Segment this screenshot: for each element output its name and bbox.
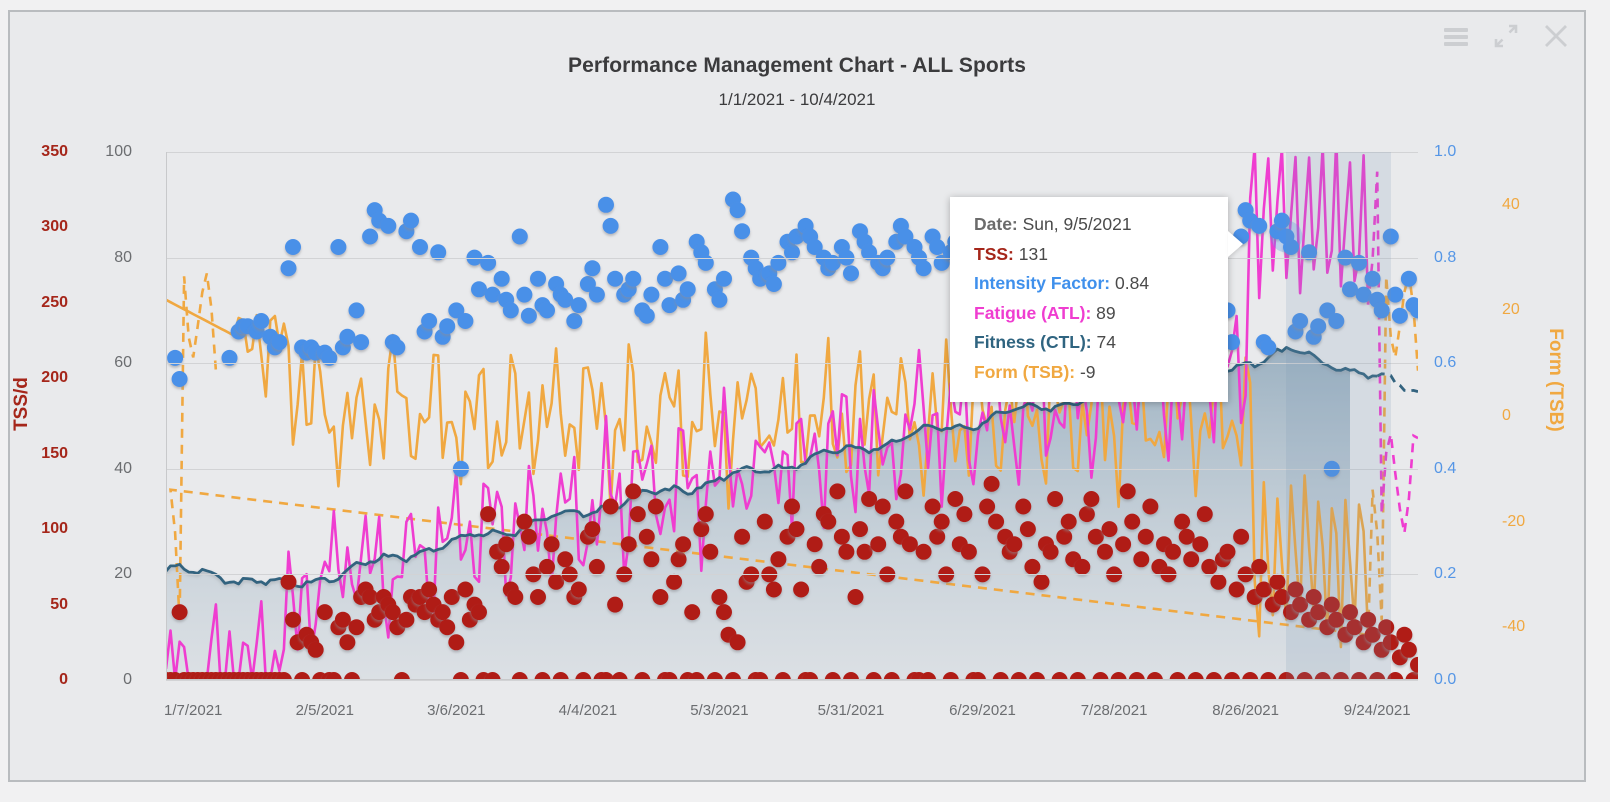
tooltip-row-4: Fitness (CTL): 74 xyxy=(974,328,1208,358)
page-title: Performance Management Chart - ALL Sport… xyxy=(10,54,1584,78)
x-tick-label: 8/26/2021 xyxy=(1212,702,1279,719)
close-icon[interactable] xyxy=(1542,22,1570,50)
y-tick-if: 0.2 xyxy=(1434,565,1456,583)
x-tick-label: 4/4/2021 xyxy=(559,702,617,719)
tooltip: Date: Sun, 9/5/2021TSS: 131Intensity Fac… xyxy=(950,197,1228,402)
y-tick-tss: 200 xyxy=(41,369,68,387)
y-tick-tss: 100 xyxy=(41,520,68,538)
y-axis-title-tsb: Form (TSB) xyxy=(1544,328,1566,431)
y-tick-tss: 150 xyxy=(41,445,68,463)
chart-window: Performance Management Chart - ALL Sport… xyxy=(8,10,1586,782)
gridline xyxy=(166,680,1418,681)
x-tick-label: 9/24/2021 xyxy=(1344,702,1411,719)
tooltip-row-5: Form (TSB): -9 xyxy=(974,358,1208,388)
y-tick-tsb: 40 xyxy=(1502,196,1520,214)
x-axis-line xyxy=(166,679,1418,680)
window-controls xyxy=(1442,22,1570,50)
y-tick-tsb: 0 xyxy=(1502,407,1511,425)
y-tick-tss: 0 xyxy=(59,671,68,689)
tooltip-row-0: Date: Sun, 9/5/2021 xyxy=(974,210,1208,240)
y-tick-ctl_atl: 100 xyxy=(105,143,132,161)
menu-icon[interactable] xyxy=(1442,22,1470,50)
y-tick-ctl_atl: 0 xyxy=(123,671,132,689)
tooltip-row-3: Fatigue (ATL): 89 xyxy=(974,299,1208,329)
x-tick-label: 3/6/2021 xyxy=(427,702,485,719)
x-tick-label: 7/28/2021 xyxy=(1081,702,1148,719)
y-axis-title-tss: TSS/d xyxy=(11,377,33,431)
gridline xyxy=(166,574,1418,575)
tooltip-value: Sun, 9/5/2021 xyxy=(1018,214,1132,234)
x-tick-label: 5/3/2021 xyxy=(690,702,748,719)
tooltip-value: 0.84 xyxy=(1110,273,1149,293)
y-tick-ctl_atl: 60 xyxy=(114,354,132,372)
date-range-subtitle: 1/1/2021 - 10/4/2021 xyxy=(10,90,1584,110)
tooltip-key: Form (TSB): xyxy=(974,362,1075,382)
tooltip-key: Fitness (CTL): xyxy=(974,332,1092,352)
y-tick-tsb: -40 xyxy=(1502,618,1525,636)
y-tick-if: 0.4 xyxy=(1434,460,1456,478)
gridline xyxy=(166,363,1418,364)
tooltip-row-2: Intensity Factor: 0.84 xyxy=(974,269,1208,299)
x-tick-label: 1/7/2021 xyxy=(164,702,222,719)
y-tick-ctl_atl: 40 xyxy=(114,460,132,478)
y-tick-tss: 250 xyxy=(41,294,68,312)
x-tick-label: 6/29/2021 xyxy=(949,702,1016,719)
y-tick-if: 0.0 xyxy=(1434,671,1456,689)
tooltip-key: TSS: xyxy=(974,244,1014,264)
y-tick-tss: 50 xyxy=(50,596,68,614)
tooltip-value: -9 xyxy=(1075,362,1095,382)
x-tick-label: 2/5/2021 xyxy=(296,702,354,719)
gridline xyxy=(166,152,1418,153)
y-axis-line xyxy=(166,152,167,680)
y-tick-ctl_atl: 80 xyxy=(114,249,132,267)
y-tick-if: 0.8 xyxy=(1434,249,1456,267)
tooltip-row-1: TSS: 131 xyxy=(974,240,1208,270)
y-tick-tss: 300 xyxy=(41,218,68,236)
highlight-band xyxy=(1286,152,1390,679)
tooltip-key: Date: xyxy=(974,214,1018,234)
expand-icon[interactable] xyxy=(1492,22,1520,50)
tooltip-value: 131 xyxy=(1014,244,1048,264)
tooltip-value: 89 xyxy=(1091,303,1115,323)
tooltip-value: 74 xyxy=(1092,332,1116,352)
tooltip-key: Fatigue (ATL): xyxy=(974,303,1091,323)
y-tick-if: 0.6 xyxy=(1434,354,1456,372)
y-tick-tss: 350 xyxy=(41,143,68,161)
gridline xyxy=(166,258,1418,259)
y-tick-ctl_atl: 20 xyxy=(114,565,132,583)
y-tick-tsb: 20 xyxy=(1502,301,1520,319)
tooltip-key: Intensity Factor: xyxy=(974,273,1110,293)
x-tick-label: 5/31/2021 xyxy=(818,702,885,719)
y-tick-tsb: -20 xyxy=(1502,513,1525,531)
y-tick-if: 1.0 xyxy=(1434,143,1456,161)
gridline xyxy=(166,469,1418,470)
tooltip-arrow xyxy=(1228,231,1243,257)
